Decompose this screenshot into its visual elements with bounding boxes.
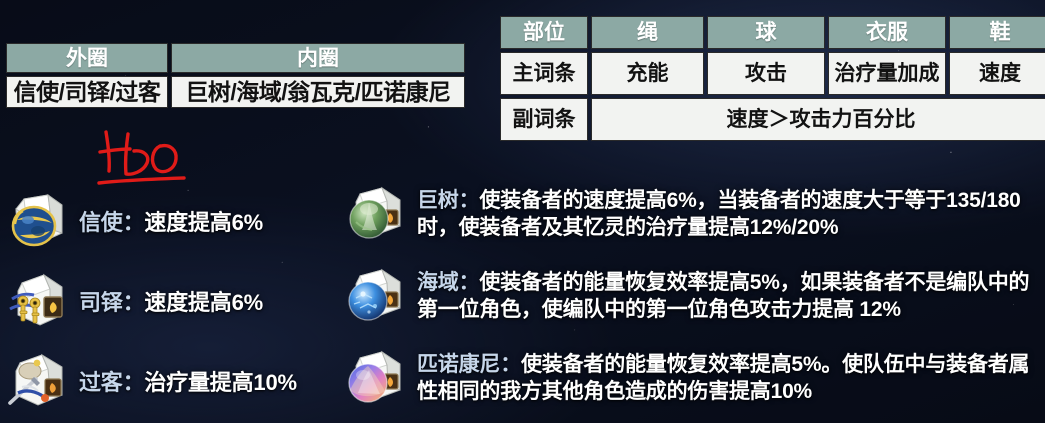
table-header-rope: 绳	[591, 16, 704, 49]
relic-icon-passerby	[4, 349, 70, 415]
outer-set-table: 外圈 内圈 信使/司铎/过客 巨树/海域/翁瓦克/匹诺康尼	[3, 40, 468, 111]
table-header-row: 外圈 内圈	[6, 43, 465, 73]
list-item: 信使：速度提高6%	[0, 182, 345, 262]
relic-desc: 速度提高6%	[144, 210, 263, 235]
relic-icon-messenger	[4, 189, 70, 255]
annotation-ink	[96, 128, 226, 190]
main-stat-boots: 速度	[949, 52, 1045, 95]
list-item: 匹诺康尼：使装备者的能量恢复效率提高5%。使队伍中与装备者属性相同的我方其他角色…	[340, 342, 1045, 423]
ornament-icon-giant-tree	[342, 182, 408, 248]
relic-name: 匹诺康尼：	[417, 353, 521, 376]
table-row: 信使/司铎/过客 巨树/海域/翁瓦克/匹诺康尼	[6, 76, 465, 108]
relic-entry-text: 海域：使装备者的能量恢复效率提高5%，如果装备者不是编队中的第一位角色，使编队中…	[417, 260, 1045, 324]
relic-desc: 使装备者的能量恢复效率提高5%，如果装备者不是编队中的第一位角色，使编队中的第一…	[417, 271, 1029, 321]
relic-name: 司铎：	[79, 290, 144, 315]
table-header-row: 部位 绳 球 衣服 鞋	[500, 16, 1045, 49]
relic-desc: 使装备者的速度提高6%，当装备者的速度大于等于135/180时，使装备者及其忆灵…	[417, 189, 1021, 239]
relic-entry-text: 匹诺康尼：使装备者的能量恢复效率提高5%。使队伍中与装备者属性相同的我方其他角色…	[417, 342, 1045, 406]
relic-icon-keeper	[4, 269, 70, 335]
sub-stat-priority: 速度＞攻击力百分比	[591, 98, 1045, 141]
relic-name: 过客：	[79, 370, 144, 395]
table-header-orb: 球	[707, 16, 825, 49]
inner-set-list: 巨树/海域/翁瓦克/匹诺康尼	[171, 76, 465, 108]
table-header-body: 衣服	[828, 16, 946, 49]
main-stat-orb: 攻击	[707, 52, 825, 95]
ornament-icon-penacony	[342, 346, 408, 412]
table-header-boots: 鞋	[949, 16, 1045, 49]
inner-ornament-list: 巨树：使装备者的速度提高6%，当装备者的速度大于等于135/180时，使装备者及…	[340, 178, 1045, 423]
list-item: 巨树：使装备者的速度提高6%，当装备者的速度大于等于135/180时，使装备者及…	[340, 178, 1045, 260]
table-header-outer: 外圈	[6, 43, 168, 73]
row-label-sub-stat: 副词条	[500, 98, 588, 141]
table-row-sub-stat: 副词条 速度＞攻击力百分比	[500, 98, 1045, 141]
stat-priority-table: 部位 绳 球 衣服 鞋 主词条 充能 攻击 治疗量加成 速度 副词条 速度＞攻击…	[497, 13, 1045, 144]
outer-relic-list: 信使：速度提高6%	[0, 182, 345, 422]
relic-entry-text: 司铎：速度提高6%	[79, 287, 345, 317]
relic-entry-text: 过客：治疗量提高10%	[79, 367, 345, 397]
main-stat-body: 治疗量加成	[828, 52, 946, 95]
relic-desc: 速度提高6%	[144, 290, 263, 315]
list-item: 过客：治疗量提高10%	[0, 342, 345, 422]
relic-name: 巨树：	[417, 189, 479, 212]
list-item: 海域：使装备者的能量恢复效率提高5%，如果装备者不是编队中的第一位角色，使编队中…	[340, 260, 1045, 342]
handwritten-annotation-180	[96, 128, 226, 190]
ornament-icon-sea-domain	[342, 264, 408, 330]
relic-name: 海域：	[417, 271, 479, 294]
relic-name: 信使：	[79, 210, 144, 235]
table-header-inner: 内圈	[171, 43, 465, 73]
table-header-part: 部位	[500, 16, 588, 49]
outer-set-list: 信使/司铎/过客	[6, 76, 168, 108]
list-item: 司铎：速度提高6%	[0, 262, 345, 342]
relic-desc: 治疗量提高10%	[144, 370, 296, 395]
relic-entry-text: 信使：速度提高6%	[79, 207, 345, 237]
table-row-main-stat: 主词条 充能 攻击 治疗量加成 速度	[500, 52, 1045, 95]
main-stat-rope: 充能	[591, 52, 704, 95]
relic-entry-text: 巨树：使装备者的速度提高6%，当装备者的速度大于等于135/180时，使装备者及…	[417, 178, 1045, 242]
row-label-main-stat: 主词条	[500, 52, 588, 95]
